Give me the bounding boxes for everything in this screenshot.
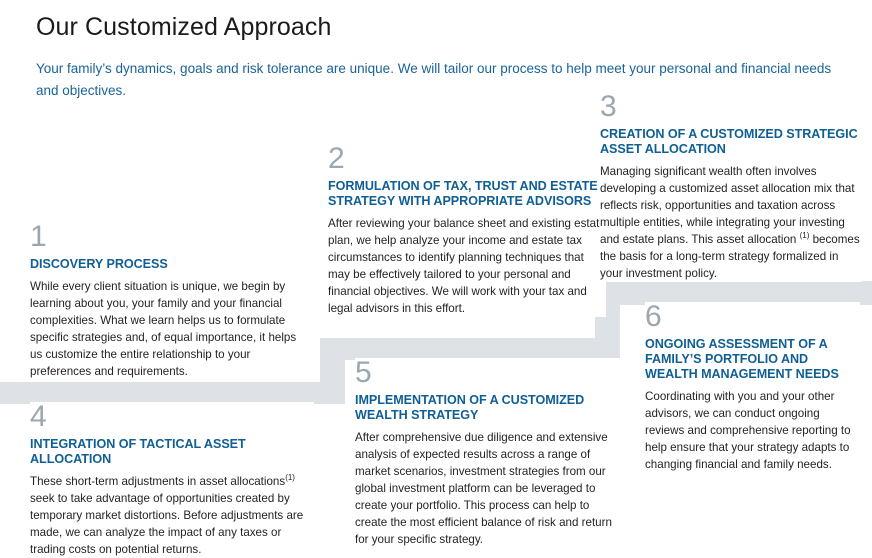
step-heading: INTEGRATION OF TACTICAL ASSET ALLOCATION	[30, 437, 314, 467]
footnote-marker: (1)	[800, 231, 810, 240]
step-card-5: 5 IMPLEMENTATION OF A CUSTOMIZED WEALTH …	[355, 358, 623, 548]
step-body: These short-term adjustments in asset al…	[30, 473, 314, 558]
step-heading: IMPLEMENTATION OF A CUSTOMIZED WEALTH ST…	[355, 393, 623, 423]
step-body: Managing significant wealth often involv…	[600, 163, 862, 282]
step-body-after: seek to take advantage of opportunities …	[30, 492, 303, 556]
page-intro: Your family’s dynamics, goals and risk t…	[36, 58, 836, 102]
stair-tread-bottom	[0, 382, 345, 404]
step-card-2: 2 FORMULATION OF TAX, TRUST AND ESTATE S…	[328, 144, 606, 317]
step-body-before: These short-term adjustments in asset al…	[30, 475, 285, 488]
approach-infographic: Our Customized Approach Your family’s dy…	[0, 0, 872, 558]
step-heading: CREATION OF A CUSTOMIZED STRATEGIC ASSET…	[600, 127, 862, 157]
step-number: 4	[30, 402, 314, 432]
step-body: After reviewing your balance sheet and e…	[328, 215, 606, 317]
step-number: 5	[355, 358, 623, 388]
footnote-marker: (1)	[285, 473, 295, 482]
step-heading: DISCOVERY PROCESS	[30, 257, 310, 272]
step-body: While every client situation is unique, …	[30, 278, 310, 380]
stair-riser-left	[320, 338, 345, 404]
step-card-4: 4 INTEGRATION OF TACTICAL ASSET ALLOCATI…	[30, 402, 314, 558]
step-number: 2	[328, 144, 606, 174]
step-body: Coordinating with you and your other adv…	[645, 388, 860, 473]
step-card-6: 6 ONGOING ASSESSMENT OF A FAMILY’S PORTF…	[645, 302, 860, 473]
page-title: Our Customized Approach	[36, 12, 332, 42]
step-number: 6	[645, 302, 860, 332]
step-card-1: 1 DISCOVERY PROCESS While every client s…	[30, 222, 310, 380]
step-heading: FORMULATION OF TAX, TRUST AND ESTATE STR…	[328, 179, 606, 209]
step-number: 1	[30, 222, 310, 252]
step-body: After comprehensive due diligence and ex…	[355, 429, 623, 548]
step-heading: ONGOING ASSESSMENT OF A FAMILY’S PORTFOL…	[645, 337, 860, 382]
step-card-3: 3 CREATION OF A CUSTOMIZED STRATEGIC ASS…	[600, 92, 862, 282]
